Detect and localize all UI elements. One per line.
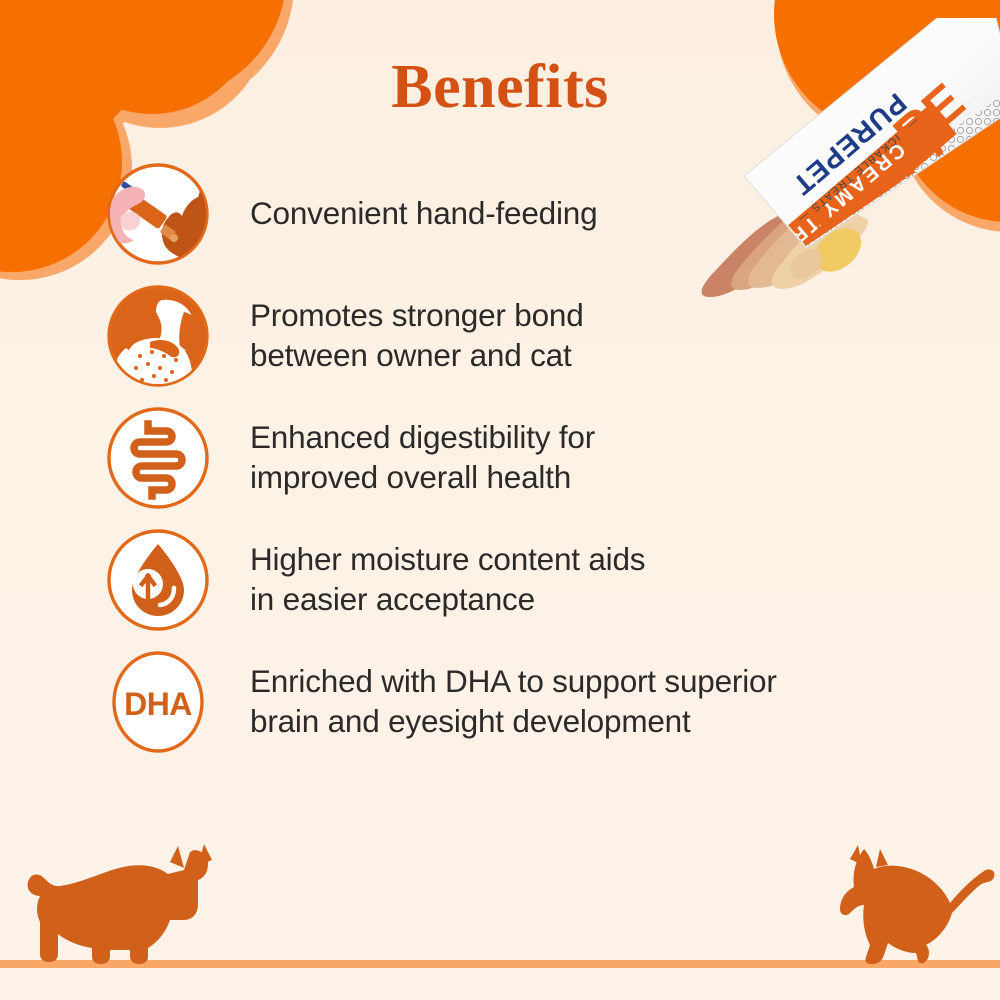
benefit-label: Higher moisture content aids in easier a… [250, 540, 645, 619]
person-hugging-cat-icon [104, 282, 212, 390]
benefit-item: Enhanced digestibility for improved over… [104, 404, 964, 512]
hand-feeding-cat-icon [104, 160, 212, 268]
dha-badge-label: DHA [124, 686, 192, 722]
page-title: Benefits [0, 52, 1000, 123]
benefit-item: Promotes stronger bond between owner and… [104, 282, 964, 390]
dha-badge-icon: DHA [104, 648, 212, 756]
benefits-list: Convenient hand-feeding [104, 160, 964, 770]
benefit-label: Promotes stronger bond between owner and… [250, 296, 584, 375]
benefit-item: Higher moisture content aids in easier a… [104, 526, 964, 634]
benefit-label: Enhanced digestibility for improved over… [250, 418, 595, 497]
intestine-icon [104, 404, 212, 512]
benefit-label: Convenient hand-feeding [250, 194, 597, 234]
benefit-label: Enriched with DHA to support superior br… [250, 662, 777, 741]
walking-cat-silhouette [18, 838, 248, 964]
sitting-cat-silhouette [806, 843, 996, 964]
benefits-infographic: CREAMY TREATS Creamy — LICKABLE TREATS —… [0, 0, 1000, 1000]
benefit-item: DHA Enriched with DHA to support superio… [104, 648, 964, 756]
water-droplet-icon [104, 526, 212, 634]
benefit-item: Convenient hand-feeding [104, 160, 964, 268]
